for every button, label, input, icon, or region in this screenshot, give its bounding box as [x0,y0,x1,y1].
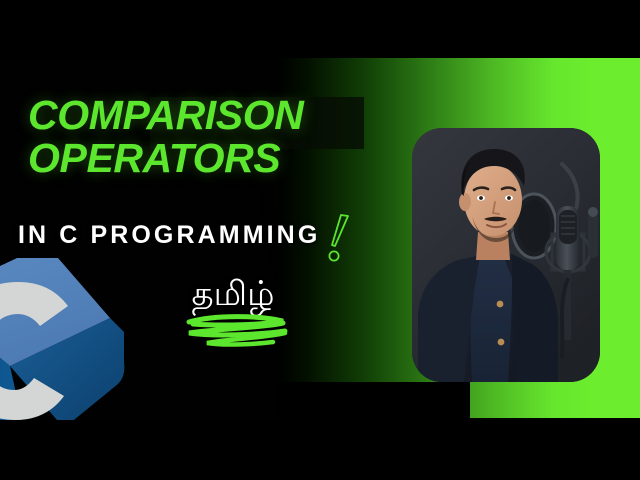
subtitle: IN C PROGRAMMING [18,220,353,269]
headline-line-2: OPERATORS [28,137,388,180]
thumbnail-content-area: COMPARISON OPERATORS IN C PROGRAMMING தம… [0,58,640,420]
language-label: தமிழ் [168,274,298,353]
letterbox-bar-bottom [0,420,640,480]
brush-scribble-svg [177,312,295,348]
subtitle-label: IN C PROGRAMMING [18,220,320,250]
exclamation-mark-doodle-icon [323,212,353,269]
letterbox-bar-top [0,0,640,58]
exclamation-doodle-svg [323,212,353,264]
video-thumbnail: COMPARISON OPERATORS IN C PROGRAMMING தம… [0,0,640,480]
presenter-photo-svg [412,128,600,382]
headline-line-1: COMPARISON [28,94,388,137]
page-title: COMPARISON OPERATORS [28,94,388,180]
language-label-text: தமிழ் [168,274,298,314]
c-programming-language-logo [0,258,144,420]
green-panel-notch [278,382,470,420]
presenter-photo-card [412,128,600,382]
c-logo-svg [0,258,144,420]
green-brush-scribble-underline-icon [174,312,298,353]
